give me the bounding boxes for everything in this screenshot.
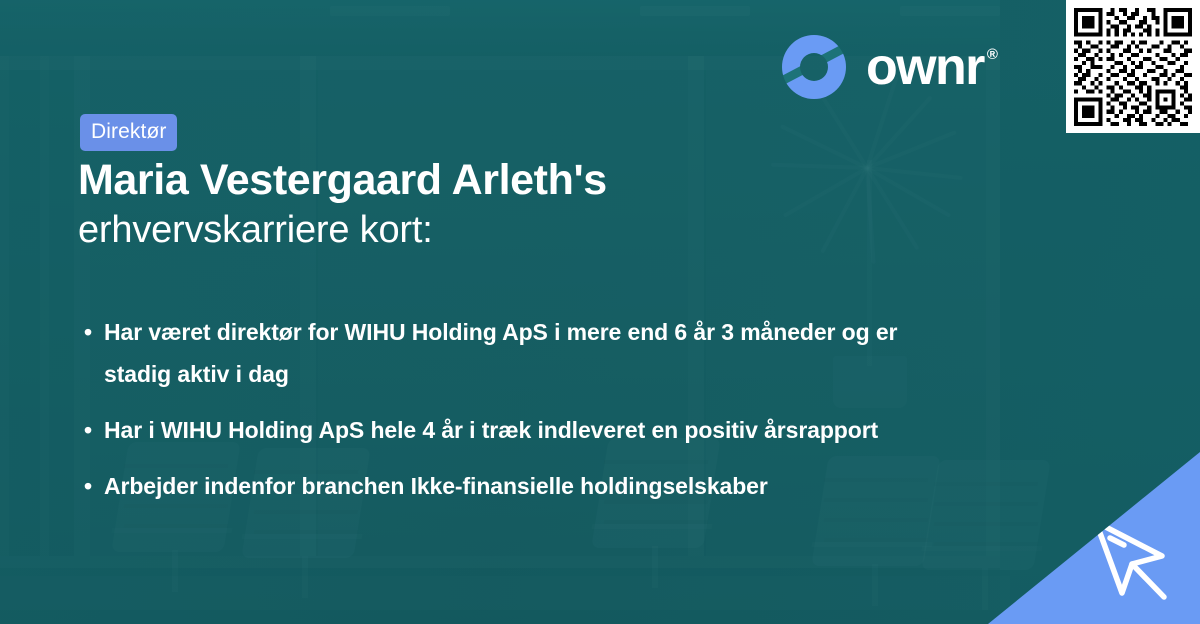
qr-code <box>1074 8 1192 126</box>
ownr-wordmark: ownr ® <box>866 41 998 93</box>
bullet-dot-icon: • <box>84 410 92 452</box>
content-layer: Direktør Maria Vestergaard Arleth's erhv… <box>0 0 1200 624</box>
bullet-dot-icon: • <box>84 466 92 508</box>
blue-corner-accent <box>988 452 1200 624</box>
ownr-logo[interactable]: ownr ® <box>778 31 998 103</box>
ownr-circle-swirl-icon <box>778 31 850 103</box>
business-card-banner: Direktør Maria Vestergaard Arleth's erhv… <box>0 0 1200 624</box>
title-line-1: Maria Vestergaard Arleth's <box>78 156 978 204</box>
registered-trademark-icon: ® <box>987 47 998 62</box>
list-item-text: Har været direktør for WIHU Holding ApS … <box>104 319 897 387</box>
career-highlights-list: • Har været direktør for WIHU Holding Ap… <box>80 312 960 521</box>
role-badge: Direktør <box>80 114 177 151</box>
page-title: Maria Vestergaard Arleth's erhvervskarri… <box>78 156 978 254</box>
click-cursor-icon <box>1066 494 1186 614</box>
list-item-text: Arbejder indenfor branchen Ikke-finansie… <box>104 473 768 499</box>
title-line-2: erhvervskarriere kort: <box>78 208 978 254</box>
list-item: • Arbejder indenfor branchen Ikke-finans… <box>80 466 960 508</box>
list-item-text: Har i WIHU Holding ApS hele 4 år i træk … <box>104 417 878 443</box>
qr-code-panel[interactable] <box>1066 0 1200 133</box>
ownr-name: ownr <box>866 41 984 93</box>
list-item: • Har i WIHU Holding ApS hele 4 år i træ… <box>80 410 960 452</box>
list-item: • Har været direktør for WIHU Holding Ap… <box>80 312 960 396</box>
bullet-dot-icon: • <box>84 312 92 354</box>
